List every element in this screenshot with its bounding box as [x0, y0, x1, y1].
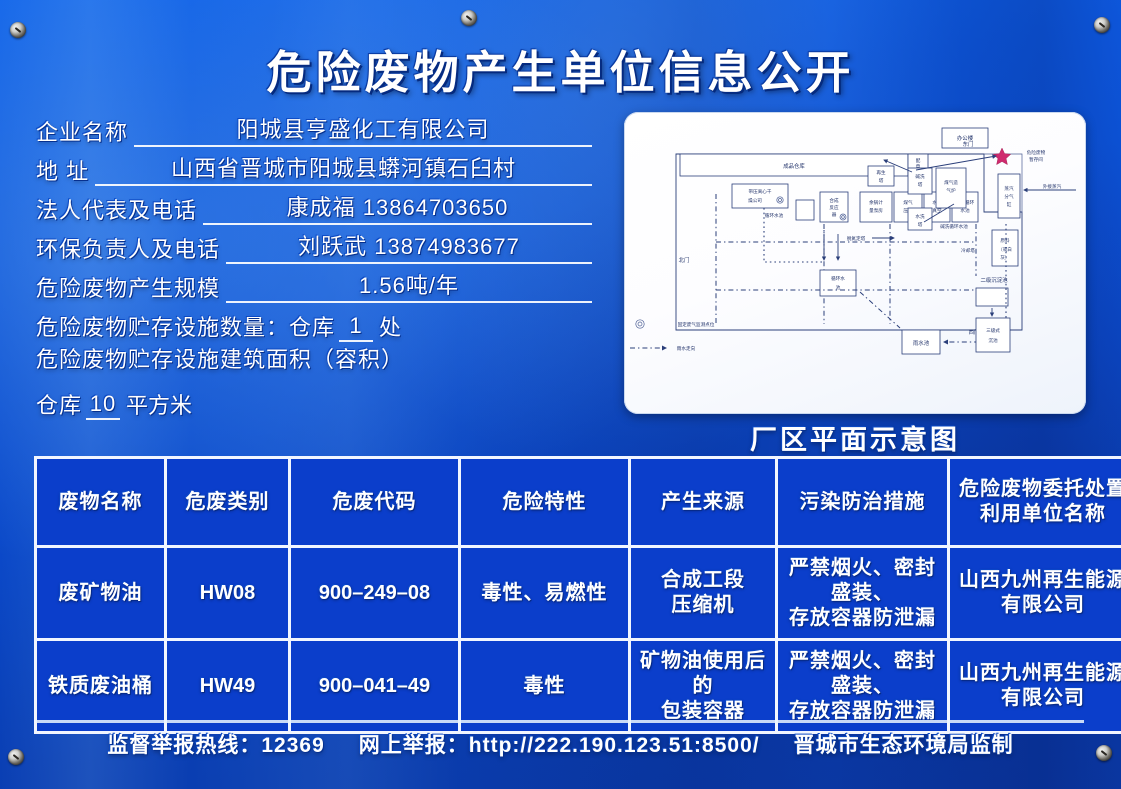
cell-source-line1: 矿物油使用后的 — [633, 649, 773, 699]
field-value-storage-count: 1 — [339, 313, 373, 342]
svg-text:碱洗循环水池: 碱洗循环水池 — [940, 223, 968, 230]
cell-source-line2: 压缩机 — [633, 593, 773, 618]
svg-text:灰）: 灰） — [1000, 254, 1009, 261]
table-header-entrusted-unit-line2: 利用单位名称 — [952, 502, 1121, 527]
cell-entrusted-unit: 山西九州再生能源 有限公司 — [949, 547, 1121, 640]
footer-divider — [36, 720, 1084, 723]
svg-text:水洗: 水洗 — [915, 213, 925, 220]
site-plan-diagram: .ln{stroke:#2b3f7a;fill:none;stroke-widt… — [624, 112, 1086, 414]
field-row-generation-scale: 危险废物产生规模 1.56吨/年 — [36, 264, 596, 303]
svg-text:塔: 塔 — [918, 181, 923, 188]
svg-text:三级式: 三级式 — [986, 327, 1000, 334]
svg-text:碱洗: 碱洗 — [915, 173, 925, 180]
field-label-company-name: 企业名称 — [36, 115, 128, 147]
cell-entrusted-line1: 山西九州再生能源 — [952, 661, 1121, 686]
svg-text:缸: 缸 — [1007, 201, 1012, 207]
mount-screw-top-center — [461, 10, 477, 26]
field-unit-storage-count: 处 — [379, 310, 401, 342]
field-row-storage-count: 危险废物贮存设施数量：仓库 1 处 — [36, 303, 596, 342]
field-value-legal-rep: 康成福 13864703650 — [203, 190, 592, 225]
cell-entrusted-line2: 有限公司 — [952, 593, 1121, 618]
hazardous-waste-table: 废物名称 危废类别 危废代码 危险特性 产生来源 污染防治措施 危险废物委托处置… — [34, 456, 1087, 734]
cell-entrusted-line2: 有限公司 — [952, 686, 1121, 711]
field-row-env-officer: 环保负责人及电话 刘跃武 13874983677 — [36, 225, 596, 264]
cell-hazard-property: 毒性 — [460, 640, 630, 733]
footer: 监督举报热线：12369 网上举报：http://222.190.123.51:… — [0, 729, 1121, 759]
mount-screw-bottom-right — [1096, 745, 1112, 761]
field-value-address: 山西省晋城市阳城县蟒河镇石臼村 — [95, 151, 592, 186]
cell-source-line1: 合成工段 — [633, 568, 773, 593]
field-label-legal-rep: 法人代表及电话 — [36, 193, 197, 225]
table-header-entrusted-unit: 危险废物委托处置 利用单位名称 — [949, 458, 1121, 547]
footer-hotline: 监督举报热线：12369 — [107, 729, 324, 759]
field-unit-storage-area: 平方米 — [126, 388, 192, 420]
legend-text-monitor-point: 固定废气监测点位 — [678, 321, 715, 328]
cell-hazard-property: 毒性、易燃性 — [460, 547, 630, 640]
cell-control-measures: 严禁烟火、密封盛装、 存放容器防泄漏 — [777, 640, 949, 733]
mount-screw-bottom-left — [8, 749, 24, 765]
table-header-control-measures: 污染防治措施 — [777, 458, 949, 547]
svg-text:循环水: 循环水 — [831, 275, 845, 282]
svg-text:循环水池: 循环水池 — [765, 212, 784, 219]
svg-text:塔: 塔 — [879, 177, 884, 184]
field-label-warehouse: 仓库 — [36, 388, 82, 420]
field-label-storage-area: 危险废物贮存设施建筑面积（容积） — [36, 347, 404, 372]
waste-table: 废物名称 危废类别 危废代码 危险特性 产生来源 污染防治措施 危险废物委托处置… — [34, 456, 1121, 734]
page-title: 危险废物产生单位信息公开 — [0, 36, 1121, 101]
svg-text:雨水池: 雨水池 — [913, 339, 930, 347]
cell-source: 矿物油使用后的 包装容器 — [630, 640, 777, 733]
svg-text:冷却塔: 冷却塔 — [961, 247, 975, 254]
svg-text:燥公司: 燥公司 — [748, 197, 762, 204]
svg-text:带压离心干: 带压离心干 — [749, 188, 772, 195]
svg-text:成品仓库: 成品仓库 — [783, 162, 805, 170]
site-plan-caption: 厂区平面示意图 — [624, 418, 1086, 457]
footer-issuer: 晋城市生态环境局监制 — [794, 729, 1014, 759]
svg-text:东门: 东门 — [963, 140, 974, 148]
svg-text:沉池: 沉池 — [988, 337, 998, 344]
field-row-storage-area-title: 危险废物贮存设施建筑面积（容积） — [36, 342, 596, 381]
svg-text:（或白: （或白 — [998, 246, 1012, 253]
field-value-company-name: 阳城县亨盛化工有限公司 — [134, 112, 592, 147]
svg-text:暂存间: 暂存间 — [1029, 156, 1043, 163]
field-row-address: 地 址 山西省晋城市阳城县蟒河镇石臼村 — [36, 147, 596, 186]
svg-text:危险废物: 危险废物 — [1027, 149, 1046, 156]
table-header-row: 废物名称 危废类别 危废代码 危险特性 产生来源 污染防治措施 危险废物委托处置… — [36, 458, 1121, 547]
company-info-block: 企业名称 阳城县亨盛化工有限公司 地 址 山西省晋城市阳城县蟒河镇石臼村 法人代… — [36, 108, 596, 420]
cell-control-measures: 严禁烟火、密封盛装、 存放容器防泄漏 — [777, 547, 949, 640]
svg-text:原料: 原料 — [1000, 237, 1010, 244]
cell-entrusted-line1: 山西九州再生能源 — [952, 568, 1121, 593]
svg-text:合成: 合成 — [829, 197, 839, 204]
table-header-source: 产生来源 — [630, 458, 777, 547]
svg-text:二级沉淀池: 二级沉淀池 — [981, 276, 1009, 284]
table-row: 废矿物油 HW08 900–249–08 毒性、易燃性 合成工段 压缩机 严禁烟… — [36, 547, 1121, 640]
svg-text:气炉: 气炉 — [946, 187, 956, 194]
svg-text:再生: 再生 — [876, 169, 886, 176]
cell-source: 合成工段 压缩机 — [630, 547, 777, 640]
cell-waste-category: HW49 — [166, 640, 290, 733]
mount-screw-top-right — [1094, 17, 1110, 33]
svg-text:脱氮定塔: 脱氮定塔 — [847, 235, 866, 242]
cell-control-line1: 严禁烟火、密封盛装、 — [780, 556, 945, 606]
table-header-waste-code: 危废代码 — [290, 458, 460, 547]
svg-text:余锅计: 余锅计 — [869, 199, 883, 206]
svg-text:北门: 北门 — [679, 256, 690, 264]
svg-text:蒸汽: 蒸汽 — [1004, 185, 1014, 192]
field-label-env-officer: 环保负责人及电话 — [36, 232, 220, 264]
information-board: 危险废物产生单位信息公开 企业名称 阳城县亨盛化工有限公司 地 址 山西省晋城市… — [0, 0, 1121, 789]
cell-waste-category: HW08 — [166, 547, 290, 640]
svg-text:煤气造: 煤气造 — [944, 179, 958, 186]
cell-waste-name: 废矿物油 — [36, 547, 166, 640]
cell-control-line2: 存放容器防泄漏 — [780, 606, 945, 631]
footer-online-report: 网上举报：http://222.190.123.51:8500/ — [359, 729, 760, 759]
cell-waste-name: 铁质废油桶 — [36, 640, 166, 733]
cell-waste-code: 900–041–49 — [290, 640, 460, 733]
field-label-generation-scale: 危险废物产生规模 — [36, 271, 220, 303]
cell-entrusted-unit: 山西九州再生能源 有限公司 — [949, 640, 1121, 733]
svg-text:池: 池 — [836, 284, 841, 290]
svg-text:分气: 分气 — [1004, 193, 1014, 200]
field-value-generation-scale: 1.56吨/年 — [226, 268, 592, 303]
cell-waste-code: 900–249–08 — [290, 547, 460, 640]
field-label-address: 地 址 — [36, 154, 89, 186]
table-header-hazard-property: 危险特性 — [460, 458, 630, 547]
table-header-entrusted-unit-line1: 危险废物委托处置 — [952, 477, 1121, 502]
field-value-env-officer: 刘跃武 13874983677 — [226, 229, 592, 264]
svg-text:量泵房: 量泵房 — [869, 207, 883, 214]
field-row-legal-rep: 法人代表及电话 康成福 13864703650 — [36, 186, 596, 225]
table-header-waste-category: 危废类别 — [166, 458, 290, 547]
site-plan-svg: .ln{stroke:#2b3f7a;fill:none;stroke-widt… — [624, 112, 1086, 414]
svg-text:煤气: 煤气 — [903, 199, 913, 206]
cell-control-line1: 严禁烟火、密封盛装、 — [780, 649, 945, 699]
svg-text:外接蒸汽: 外接蒸汽 — [1043, 183, 1062, 190]
field-row-company-name: 企业名称 阳城县亨盛化工有限公司 — [36, 108, 596, 147]
table-row: 铁质废油桶 HW49 900–041–49 毒性 矿物油使用后的 包装容器 严禁… — [36, 640, 1121, 733]
field-row-storage-area-value: 仓库 10 平方米 — [36, 381, 596, 420]
field-label-storage-count: 危险废物贮存设施数量：仓库 — [36, 310, 335, 342]
legend-text-rain-flow: 雨水走向 — [677, 345, 696, 352]
table-header-waste-name: 废物名称 — [36, 458, 166, 547]
svg-text:反应: 反应 — [829, 204, 839, 211]
svg-text:办公楼: 办公楼 — [957, 134, 974, 142]
svg-text:塔: 塔 — [918, 221, 923, 228]
field-value-storage-area: 10 — [86, 391, 120, 420]
mount-screw-top-left — [10, 22, 26, 38]
